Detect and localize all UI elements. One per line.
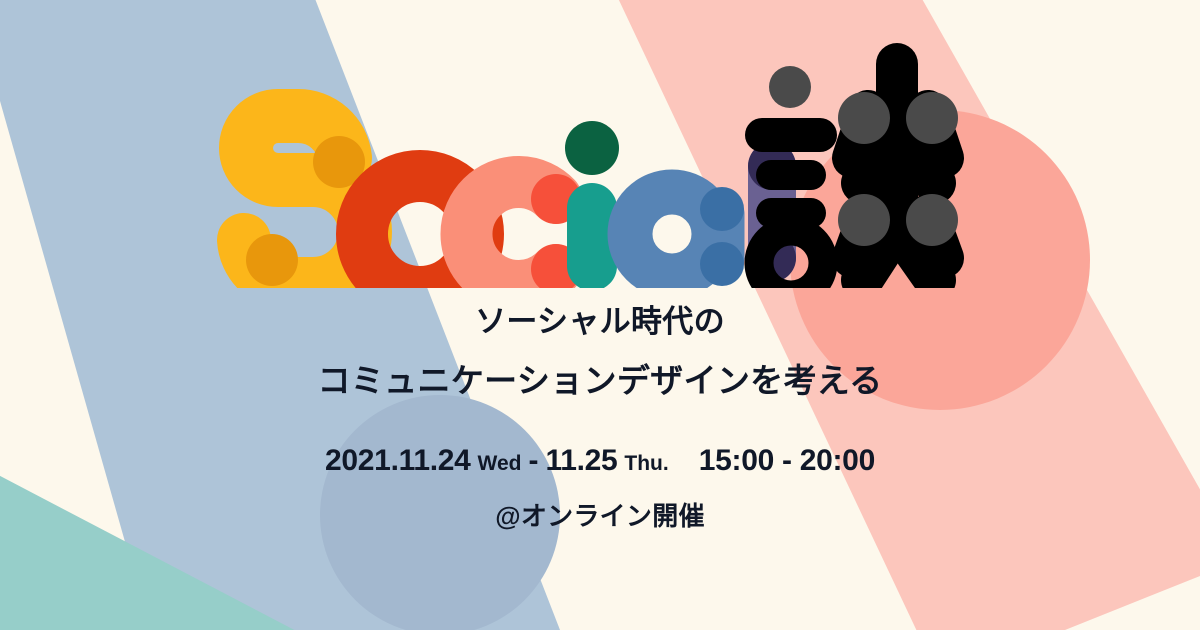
event-start-date: 2021.11.24: [325, 444, 471, 478]
kanji-ka-upper-dot-right: [906, 92, 958, 144]
kanji-ka-upper-dot-left: [838, 92, 890, 144]
event-end-date: 11.25: [545, 444, 617, 478]
event-end-day: Thu.: [624, 452, 668, 476]
kanji-ka-lower-dot-left: [838, 194, 890, 246]
logo-letter-a: [630, 187, 744, 286]
event-time-range: 15:00 - 20:00: [699, 444, 875, 478]
event-venue: @オンライン開催: [0, 496, 1200, 533]
event-text-block: ソーシャル時代の コミュニケーションデザインを考える 2021.11.24 We…: [0, 300, 1200, 533]
kanji-gon-bar1: [745, 118, 837, 152]
date-separator: -: [528, 444, 538, 478]
logo-i-dot: [565, 121, 619, 175]
event-date-row: 2021.11.24 Wed - 11.25 Thu. 15:00 - 20:0…: [0, 444, 1200, 478]
kanji-ka-lower-dot-right: [906, 194, 958, 246]
logo-letter-c: [466, 174, 581, 288]
subtitle-line-1: ソーシャル時代の: [0, 300, 1200, 344]
kanji-gon-bar2: [756, 160, 826, 190]
event-start-day: Wed: [478, 452, 522, 476]
logo-S-accent-bottom: [246, 234, 298, 286]
kanji-gon-dot: [769, 66, 811, 108]
social-dan-logo: [0, 18, 1200, 288]
subtitle-line-2: コミュニケーションデザインを考える: [0, 358, 1200, 404]
poster-canvas: ソーシャル時代の コミュニケーションデザインを考える 2021.11.24 We…: [0, 0, 1200, 630]
logo-a-accent-top: [700, 187, 744, 231]
logo-a-accent-bottom: [700, 242, 744, 286]
